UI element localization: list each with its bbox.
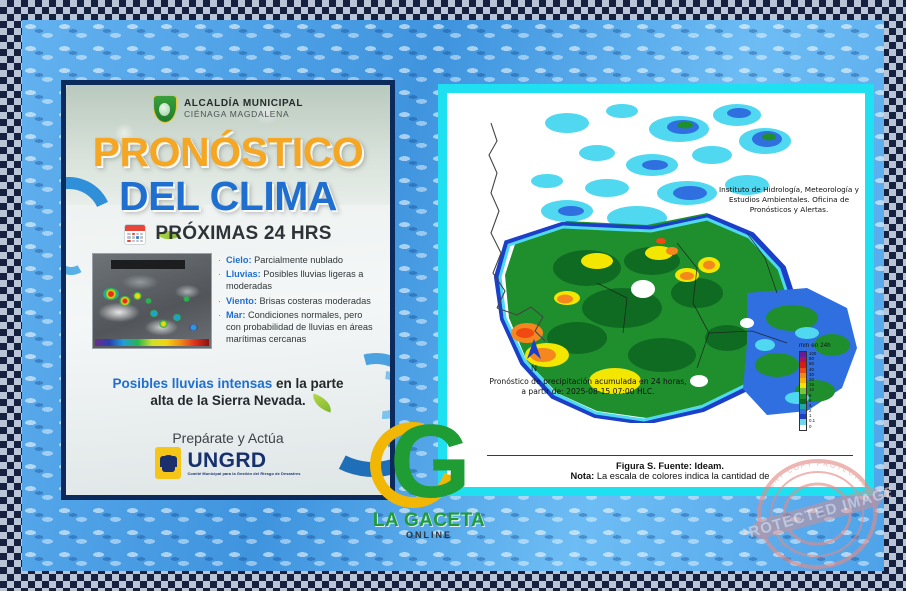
la-gaceta-logo[interactable]: G LA GACETA ONLINE	[356, 414, 502, 544]
ungrd-subtitle: Comité Municipal para la Gestión del Rie…	[187, 472, 300, 476]
bullet-dot-icon: ·	[218, 296, 221, 308]
institute-note: Instituto de Hidrología, Meteorología y …	[709, 185, 865, 215]
precipitation-map-panel: Instituto de Hidrología, Meteorología y …	[438, 84, 874, 496]
forecast-period-row: PRÓXIMAS 24 HRS	[66, 223, 390, 245]
ungrd-name: UNGRD	[187, 450, 300, 471]
bullet-text: Brisas costeras moderadas	[260, 296, 371, 306]
colorbar-tick-labels: 10080604030201510864210.10	[809, 351, 816, 431]
logo-subtitle: ONLINE	[356, 530, 502, 540]
forecast-period-label: PRÓXIMAS 24 HRS	[155, 223, 331, 245]
colorbar-title: mm en 24h	[799, 343, 853, 349]
list-item: ·Viento: Brisas costeras moderadas	[218, 296, 376, 308]
figure-caption: Figura S. Fuente: Ideam. Nota: La escala…	[487, 455, 853, 481]
list-item: ·Lluvias: Posibles lluvias ligeras a mod…	[218, 269, 376, 293]
bullet-text: Parcialmente nublado	[254, 255, 343, 265]
colorbar-swatch	[800, 425, 806, 430]
caption-note-label: Nota:	[571, 471, 595, 481]
poster-title-line2: DEL CLIMA	[66, 173, 390, 220]
weather-forecast-poster: ALCALDÍA MUNICIPAL CIÉNAGA MAGDALENA PRO…	[61, 80, 395, 500]
bullet-label: Mar:	[226, 310, 245, 320]
warning-highlight: Posibles lluvias intensas	[112, 376, 272, 391]
alcaldia-line2: CIÉNAGA MAGDALENA	[184, 110, 303, 119]
call-to-action: Prepárate y Actúa	[66, 430, 390, 446]
bullet-label: Lluvias:	[226, 269, 261, 279]
ungrd-logo: UNGRD Comité Municipal para la Gestión d…	[66, 447, 390, 479]
warning-message: Posibles lluvias intensas en la parte al…	[82, 375, 374, 410]
ungrd-hand-icon	[155, 447, 181, 479]
north-label: N	[525, 364, 543, 373]
list-item: ·Cielo: Parcialmente nublado	[218, 255, 376, 267]
bullet-text: Condiciones normales, pero con probabili…	[226, 310, 373, 344]
map-colorbar-legend: mm en 24h 10080604030201510864210.10	[799, 343, 853, 431]
alcaldia-header: ALCALDÍA MUNICIPAL CIÉNAGA MAGDALENA	[66, 95, 390, 123]
bullet-dot-icon: ·	[218, 255, 221, 267]
bullet-dot-icon: ·	[218, 310, 221, 346]
forecast-note-line2: a partir de: 2025-08-15 07:00 HLC.	[465, 387, 711, 397]
warning-rest: en la parte	[272, 376, 343, 391]
logo-name: LA GACETA	[356, 510, 502, 532]
list-item: ·Mar: Condiciones normales, pero con pro…	[218, 310, 376, 346]
bullet-dot-icon: ·	[218, 269, 221, 293]
satellite-colorbar	[95, 339, 209, 346]
warning-line2: alta de la Sierra Nevada.	[150, 393, 305, 408]
forecast-note: Pronóstico de precipitación acumulada en…	[465, 377, 711, 398]
forecast-bullet-list: ·Cielo: Parcialmente nublado ·Lluvias: P…	[218, 255, 376, 349]
calendar-icon	[124, 224, 146, 245]
logo-letter-g: G	[390, 416, 471, 510]
forecast-note-line1: Pronóstico de precipitación acumulada en…	[465, 377, 711, 387]
bullet-label: Cielo:	[226, 255, 252, 265]
caption-source: Figura S. Fuente: Ideam.	[487, 461, 853, 471]
colorbar-strip	[799, 351, 807, 431]
bullet-label: Viento:	[226, 296, 257, 306]
north-arrow-icon: N	[525, 339, 543, 373]
satellite-radar-thumbnail	[92, 253, 212, 349]
poster-title-line1: PRONÓSTICO	[66, 129, 390, 176]
shield-icon	[153, 95, 177, 123]
colorbar-tick: 0	[809, 424, 816, 429]
caption-note-text: La escala de colores indica la cantidad …	[594, 471, 769, 481]
